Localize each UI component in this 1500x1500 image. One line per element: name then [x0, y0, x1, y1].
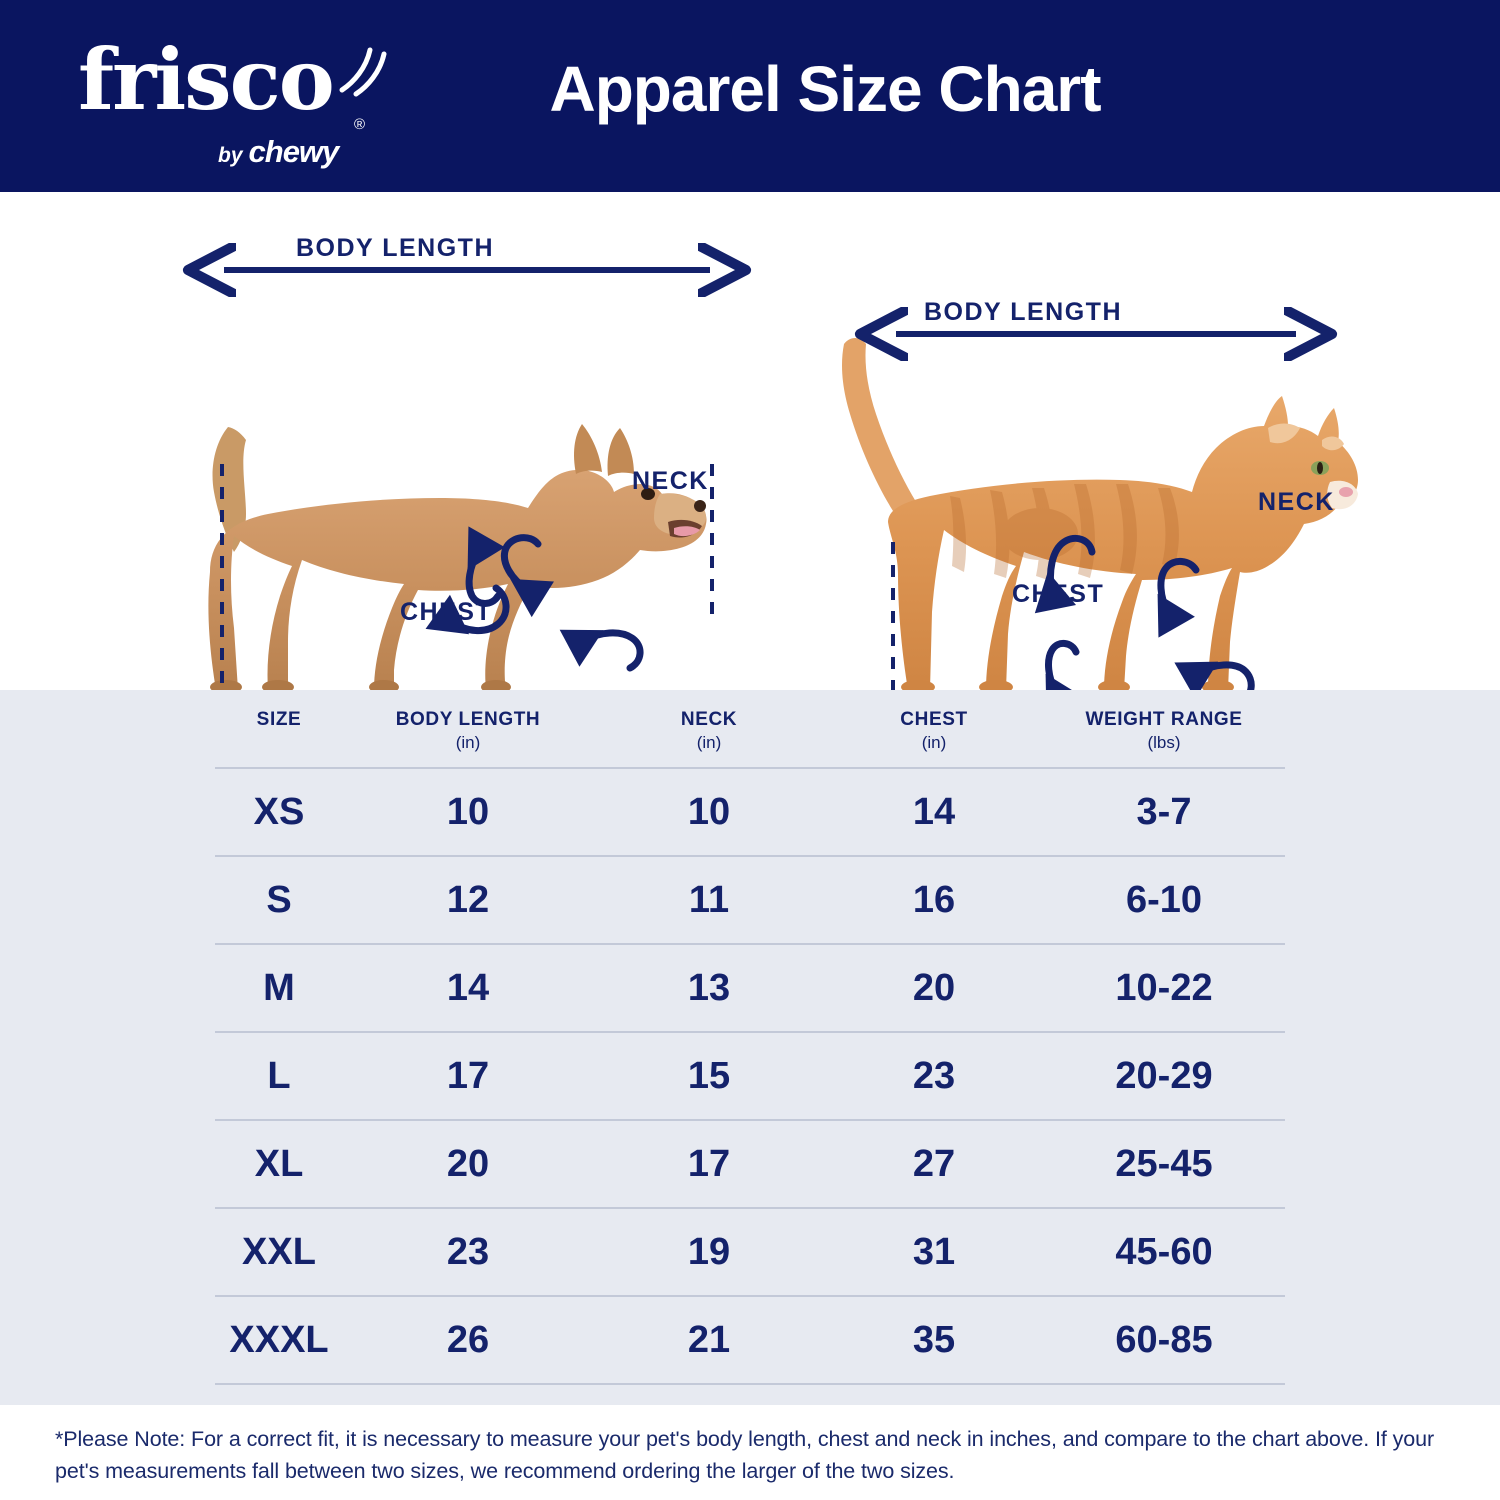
column-header-body-length-label: BODY LENGTH — [396, 709, 541, 730]
cell-size: XXL — [215, 1208, 343, 1296]
table-row: M 14 13 20 10-22 — [215, 944, 1285, 1032]
column-header-chest-label: CHEST — [900, 709, 967, 730]
dog-chest-label: CHEST — [400, 598, 492, 627]
column-header-chest: CHEST (in) — [825, 690, 1043, 768]
cat-chest-label: CHEST — [1012, 580, 1104, 609]
cell-size: L — [215, 1032, 343, 1120]
diagram-graphics — [0, 192, 1500, 690]
cell-chest: 16 — [825, 856, 1043, 944]
table-header-row: SIZE BODY LENGTH (in) NECK (in) CHEST (i… — [215, 690, 1285, 768]
cell-neck: 19 — [593, 1208, 825, 1296]
column-header-size-label: SIZE — [257, 709, 302, 730]
column-header-body-length: BODY LENGTH (in) — [343, 690, 593, 768]
column-header-weight-range-label: WEIGHT RANGE — [1085, 709, 1242, 730]
cell-chest: 20 — [825, 944, 1043, 1032]
cell-chest: 23 — [825, 1032, 1043, 1120]
column-header-neck: NECK (in) — [593, 690, 825, 768]
cell-weight-range: 45-60 — [1043, 1208, 1285, 1296]
column-header-neck-unit: (in) — [593, 732, 825, 753]
cell-weight-range: 20-29 — [1043, 1032, 1285, 1120]
cell-weight-range: 60-85 — [1043, 1296, 1285, 1384]
table-body: XS 10 10 14 3-7 S 12 11 16 6-10 M 14 13 — [215, 768, 1285, 1384]
footnote-text: *Please Note: For a correct fit, it is n… — [55, 1423, 1445, 1488]
column-header-weight-range-unit: (lbs) — [1043, 732, 1285, 753]
cell-body-length: 23 — [343, 1208, 593, 1296]
table-row: L 17 15 23 20-29 — [215, 1032, 1285, 1120]
table-row: XXL 23 19 31 45-60 — [215, 1208, 1285, 1296]
cell-weight-range: 6-10 — [1043, 856, 1285, 944]
measurement-diagrams: BODY LENGTH NECK CHEST BODY LENGTH NECK … — [0, 192, 1500, 690]
dog-neck-arrow-c — [585, 633, 640, 668]
dog-neck-label: NECK — [632, 467, 709, 496]
cell-neck: 10 — [593, 768, 825, 856]
cell-weight-range: 3-7 — [1043, 768, 1285, 856]
cell-size: XXXL — [215, 1296, 343, 1384]
cell-weight-range: 10-22 — [1043, 944, 1285, 1032]
cell-neck: 15 — [593, 1032, 825, 1120]
cell-body-length: 20 — [343, 1120, 593, 1208]
cell-size: XL — [215, 1120, 343, 1208]
cat-body-length-label: BODY LENGTH — [924, 298, 1122, 327]
cell-neck: 17 — [593, 1120, 825, 1208]
cell-size: M — [215, 944, 343, 1032]
table-row: S 12 11 16 6-10 — [215, 856, 1285, 944]
column-header-body-length-unit: (in) — [343, 732, 593, 753]
cat-chest-arrow — [1049, 643, 1076, 690]
table-row: XL 20 17 27 25-45 — [215, 1120, 1285, 1208]
cell-body-length: 10 — [343, 768, 593, 856]
cell-neck: 11 — [593, 856, 825, 944]
size-table-section: SIZE BODY LENGTH (in) NECK (in) CHEST (i… — [0, 690, 1500, 1405]
column-header-weight-range: WEIGHT RANGE (lbs) — [1043, 690, 1285, 768]
table-row: XS 10 10 14 3-7 — [215, 768, 1285, 856]
cell-body-length: 17 — [343, 1032, 593, 1120]
cell-size: XS — [215, 768, 343, 856]
dog-body-length-label: BODY LENGTH — [296, 234, 494, 263]
size-table: SIZE BODY LENGTH (in) NECK (in) CHEST (i… — [215, 690, 1285, 1385]
cell-body-length: 26 — [343, 1296, 593, 1384]
logo-by-text: by — [218, 144, 243, 168]
cell-chest: 14 — [825, 768, 1043, 856]
size-chart-page: frisco ® by chewy Apparel Size Chart — [0, 0, 1500, 1500]
column-header-chest-unit: (in) — [825, 732, 1043, 753]
cell-neck: 21 — [593, 1296, 825, 1384]
table-row: XXXL 26 21 35 60-85 — [215, 1296, 1285, 1384]
cell-chest: 35 — [825, 1296, 1043, 1384]
cell-body-length: 12 — [343, 856, 593, 944]
logo-chewy-text: chewy — [249, 134, 339, 170]
page-header: frisco ® by chewy Apparel Size Chart — [0, 0, 1500, 192]
cell-size: S — [215, 856, 343, 944]
logo-byline: by chewy — [218, 134, 338, 170]
cell-body-length: 14 — [343, 944, 593, 1032]
column-header-neck-label: NECK — [681, 709, 737, 730]
cell-neck: 13 — [593, 944, 825, 1032]
cell-weight-range: 25-45 — [1043, 1120, 1285, 1208]
cell-chest: 31 — [825, 1208, 1043, 1296]
footnote-section: *Please Note: For a correct fit, it is n… — [0, 1405, 1500, 1500]
cat-neck-label: NECK — [1258, 488, 1335, 517]
cell-chest: 27 — [825, 1120, 1043, 1208]
column-header-size: SIZE — [215, 690, 343, 768]
page-title: Apparel Size Chart — [0, 52, 1500, 126]
